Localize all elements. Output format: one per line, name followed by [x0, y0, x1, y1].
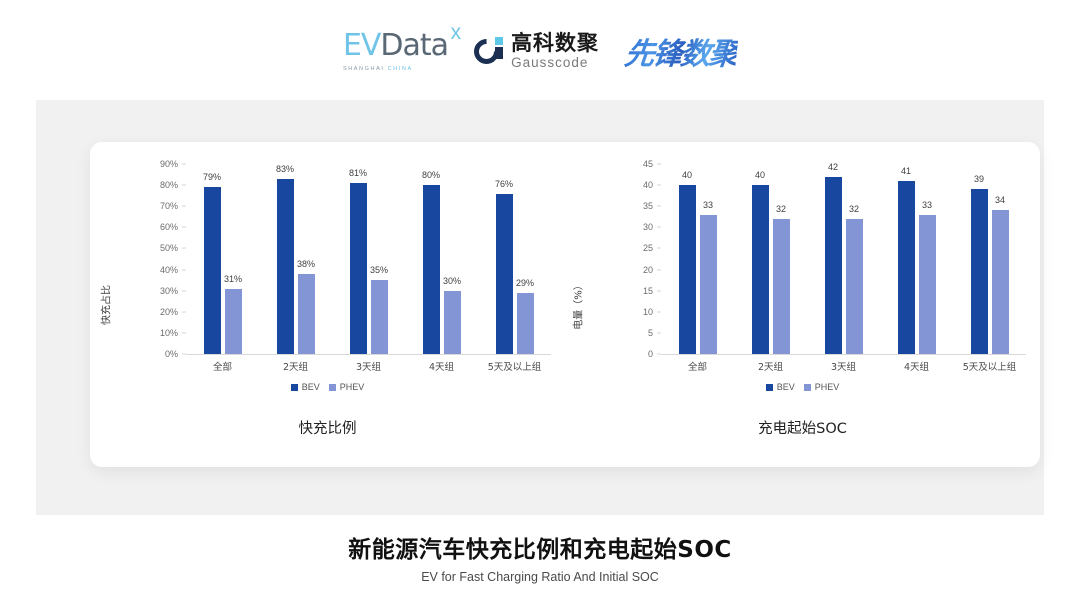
- bar-group: 83%38%: [259, 164, 332, 354]
- x-category-label: 5天及以上组: [953, 359, 1026, 373]
- evdata-ev-text: EV: [343, 31, 380, 61]
- y-tick-label: 5: [648, 328, 653, 338]
- charts-row: 快充占比 0%10%20%30%40%50%60%70%80%90% 79%31…: [90, 142, 1040, 467]
- plot-area: 79%31%83%38%81%35%80%30%76%29%: [186, 164, 551, 355]
- legend-label-phev: PHEV: [815, 382, 840, 392]
- bar-fill: [898, 181, 915, 354]
- bar-value-label: 76%: [495, 179, 513, 189]
- y-tick-label: 50%: [160, 243, 178, 253]
- chart-title: 充电起始SOC: [565, 417, 1040, 438]
- bar-fill: [992, 210, 1009, 354]
- bar-fill: [204, 187, 221, 354]
- y-tick-label: 20: [643, 265, 653, 275]
- y-tick-label: 70%: [160, 201, 178, 211]
- legend-swatch-phev: [804, 384, 811, 391]
- bar-phev[interactable]: 32: [773, 219, 790, 354]
- bar-bev[interactable]: 41: [898, 181, 915, 354]
- legend-item-phev: PHEV: [329, 382, 365, 392]
- bar-bev[interactable]: 79%: [204, 187, 221, 354]
- bar-bev[interactable]: 42: [825, 177, 842, 354]
- bar-bev[interactable]: 83%: [277, 179, 294, 354]
- bar-fill: [679, 185, 696, 354]
- page-subtitle: EV for Fast Charging Ratio And Initial S…: [0, 570, 1080, 584]
- bar-group: 3934: [953, 164, 1026, 354]
- y-tick-label: 25: [643, 243, 653, 253]
- bar-value-label: 40: [755, 170, 765, 180]
- bar-value-label: 34: [995, 195, 1005, 205]
- plot: 0%10%20%30%40%50%60%70%80%90% 79%31%83%3…: [148, 164, 551, 354]
- evdata-data-text: Data: [380, 31, 448, 61]
- evdata-x-icon: x: [451, 22, 462, 43]
- bar-value-label: 80%: [422, 170, 440, 180]
- chart-fast-charging-ratio: 快充占比 0%10%20%30%40%50%60%70%80%90% 79%31…: [90, 142, 565, 467]
- bar-value-label: 29%: [516, 278, 534, 288]
- y-axis-ticks: 0%10%20%30%40%50%60%70%80%90%: [148, 164, 182, 354]
- bar-value-label: 79%: [203, 172, 221, 182]
- bar-group: 79%31%: [186, 164, 259, 354]
- bar-bev[interactable]: 76%: [496, 194, 513, 354]
- bar-phev[interactable]: 35%: [371, 280, 388, 354]
- bar-value-label: 40: [682, 170, 692, 180]
- bar-value-label: 41: [901, 166, 911, 176]
- y-tick-label: 20%: [160, 307, 178, 317]
- bar-value-label: 81%: [349, 168, 367, 178]
- x-category-label: 全部: [661, 359, 734, 373]
- y-tick-label: 30%: [160, 286, 178, 296]
- chart-legend: BEV PHEV: [565, 382, 1040, 392]
- y-tick-label: 40%: [160, 265, 178, 275]
- bar-value-label: 35%: [370, 265, 388, 275]
- x-category-label: 3天组: [807, 359, 880, 373]
- legend-label-bev: BEV: [302, 382, 320, 392]
- bar-fill: [700, 215, 717, 354]
- y-axis-title: 电量（%）: [569, 280, 584, 330]
- y-tick-label: 0: [648, 349, 653, 359]
- bar-bev[interactable]: 40: [752, 185, 769, 354]
- bar-fill: [277, 179, 294, 354]
- y-tick-label: 40: [643, 180, 653, 190]
- gausscode-logo: 高科数聚 Gausscode: [474, 33, 599, 70]
- bar-fill: [225, 289, 242, 354]
- bar-phev[interactable]: 32: [846, 219, 863, 354]
- bar-bev[interactable]: 80%: [423, 185, 440, 354]
- legend-swatch-bev: [291, 384, 298, 391]
- bar-fill: [371, 280, 388, 354]
- bar-group: 4133: [880, 164, 953, 354]
- evdata-tagline: SHANGHAI CHINA: [343, 66, 413, 72]
- chart-initial-soc: 电量（%） 051015202530354045 403340324232413…: [565, 142, 1040, 467]
- bar-fill: [444, 291, 461, 354]
- bar-fill: [919, 215, 936, 354]
- plot: 051015202530354045 40334032423241333934: [623, 164, 1026, 354]
- bar-group: 80%30%: [405, 164, 478, 354]
- y-tick-label: 45: [643, 159, 653, 169]
- y-tick-label: 10: [643, 307, 653, 317]
- y-axis-ticks: 051015202530354045: [623, 164, 657, 354]
- bar-bev[interactable]: 39: [971, 189, 988, 354]
- bar-value-label: 30%: [443, 276, 461, 286]
- bar-value-label: 42: [828, 162, 838, 172]
- gausscode-square-dark-shape: [495, 47, 503, 59]
- gausscode-mark-icon: [474, 36, 504, 66]
- xianfeng-cn-text: 先锋数聚: [623, 29, 740, 73]
- bar-value-label: 31%: [224, 274, 242, 284]
- bar-fill: [971, 189, 988, 354]
- x-category-label: 3天组: [332, 359, 405, 373]
- legend-label-phev: PHEV: [340, 382, 365, 392]
- chart-legend: BEV PHEV: [90, 382, 565, 392]
- bar-fill: [423, 185, 440, 354]
- bar-value-label: 32: [849, 204, 859, 214]
- footer: 新能源汽车快充比例和充电起始SOC EV for Fast Charging R…: [0, 530, 1080, 584]
- bar-phev[interactable]: 31%: [225, 289, 242, 354]
- x-category-label: 2天组: [259, 359, 332, 373]
- y-axis-title: 快充占比: [98, 285, 113, 325]
- legend-item-bev: BEV: [766, 382, 795, 392]
- bar-fill: [517, 293, 534, 354]
- legend-swatch-phev: [329, 384, 336, 391]
- bar-group: 76%29%: [478, 164, 551, 354]
- bar-bev[interactable]: 81%: [350, 183, 367, 354]
- plot-area: 40334032423241333934: [661, 164, 1026, 355]
- legend-item-phev: PHEV: [804, 382, 840, 392]
- x-category-label: 4天组: [405, 359, 478, 373]
- gausscode-square-light-shape: [495, 37, 503, 45]
- bar-fill: [773, 219, 790, 354]
- y-tick-label: 60%: [160, 222, 178, 232]
- bar-group: 81%35%: [332, 164, 405, 354]
- bar-bev[interactable]: 40: [679, 185, 696, 354]
- logo-bar: EV Data x SHANGHAI CHINA 高科数聚 Gausscode …: [0, 22, 1080, 80]
- bar-value-label: 39: [974, 174, 984, 184]
- evdata-tagline-city: SHANGHAI: [343, 66, 388, 72]
- evdata-tagline-country: CHINA: [388, 66, 413, 72]
- bar-value-label: 33: [922, 200, 932, 210]
- y-tick-label: 0%: [165, 349, 178, 359]
- x-category-label: 2天组: [734, 359, 807, 373]
- chart-title: 快充比例: [90, 417, 565, 438]
- gausscode-wordmark: 高科数聚 Gausscode: [511, 33, 599, 70]
- bar-phev[interactable]: 33: [919, 215, 936, 354]
- y-tick-label: 80%: [160, 180, 178, 190]
- x-axis-categories: 全部2天组3天组4天组5天及以上组: [186, 359, 551, 373]
- bar-phev[interactable]: 29%: [517, 293, 534, 354]
- bar-fill: [298, 274, 315, 354]
- x-axis-categories: 全部2天组3天组4天组5天及以上组: [661, 359, 1026, 373]
- y-tick-label: 90%: [160, 159, 178, 169]
- bar-group: 4232: [807, 164, 880, 354]
- bar-phev[interactable]: 34: [992, 210, 1009, 354]
- bar-phev[interactable]: 30%: [444, 291, 461, 354]
- evdata-logo: EV Data x SHANGHAI CHINA: [343, 31, 448, 72]
- bar-value-label: 32: [776, 204, 786, 214]
- gausscode-cn-text: 高科数聚: [511, 33, 599, 54]
- x-category-label: 4天组: [880, 359, 953, 373]
- bar-group: 4033: [661, 164, 734, 354]
- gausscode-en-text: Gausscode: [511, 56, 599, 70]
- bar-fill: [350, 183, 367, 354]
- bar-value-label: 38%: [297, 259, 315, 269]
- bar-phev[interactable]: 33: [700, 215, 717, 354]
- bar-fill: [496, 194, 513, 354]
- legend-label-bev: BEV: [777, 382, 795, 392]
- page-title: 新能源汽车快充比例和充电起始SOC: [0, 530, 1080, 564]
- bar-fill: [825, 177, 842, 354]
- y-tick-label: 35: [643, 201, 653, 211]
- legend-swatch-bev: [766, 384, 773, 391]
- bar-group: 4032: [734, 164, 807, 354]
- bar-phev[interactable]: 38%: [298, 274, 315, 354]
- y-tick-label: 10%: [160, 328, 178, 338]
- legend-item-bev: BEV: [291, 382, 320, 392]
- xianfeng-logo: 先锋数聚: [625, 29, 737, 73]
- y-tick-label: 15: [643, 286, 653, 296]
- bar-value-label: 33: [703, 200, 713, 210]
- x-category-label: 全部: [186, 359, 259, 373]
- bar-fill: [846, 219, 863, 354]
- bar-fill: [752, 185, 769, 354]
- evdata-wordmark: EV Data x: [343, 31, 448, 61]
- x-category-label: 5天及以上组: [478, 359, 551, 373]
- y-tick-label: 30: [643, 222, 653, 232]
- bar-value-label: 83%: [276, 164, 294, 174]
